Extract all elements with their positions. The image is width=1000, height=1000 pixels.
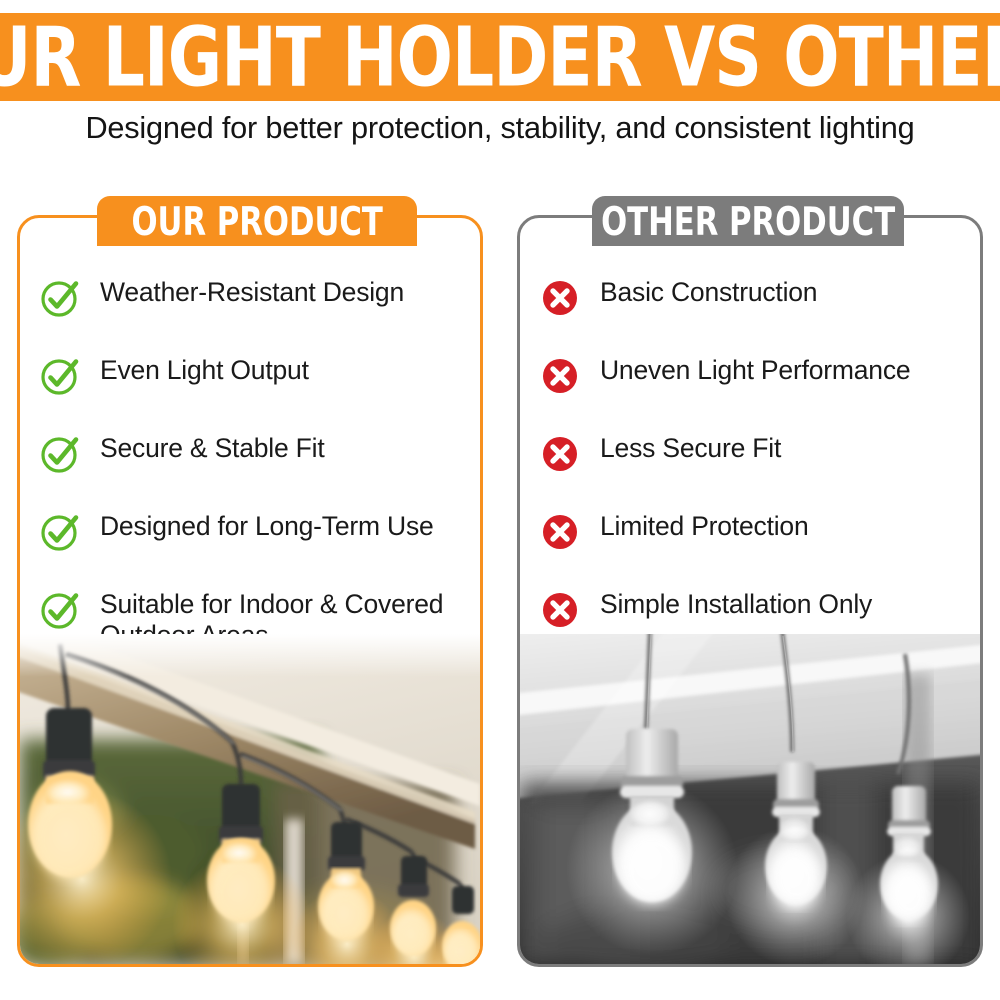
check-circle-icon xyxy=(38,276,82,320)
our-product-card: Weather-Resistant Design Even Light Outp… xyxy=(17,215,483,967)
other-product-feature-list: Basic Construction Uneven Light Performa… xyxy=(520,270,980,660)
list-item: Weather-Resistant Design xyxy=(38,270,466,348)
header-banner: OUR LIGHT HOLDER VS OTHERS xyxy=(0,13,1000,101)
list-item: Uneven Light Performance xyxy=(538,348,966,426)
our-product-photo xyxy=(20,634,480,964)
list-item: Secure & Stable Fit xyxy=(38,426,466,504)
list-item-label: Less Secure Fit xyxy=(600,430,781,464)
x-circle-icon xyxy=(538,354,582,398)
x-circle-icon xyxy=(538,276,582,320)
check-circle-icon xyxy=(38,588,82,632)
tab-our-product[interactable]: OUR PRODUCT xyxy=(97,196,417,246)
list-item: Limited Protection xyxy=(538,504,966,582)
list-item-label: Designed for Long-Term Use xyxy=(100,508,434,542)
list-item-label: Limited Protection xyxy=(600,508,809,542)
list-item-label: Basic Construction xyxy=(600,274,817,308)
check-circle-icon xyxy=(38,510,82,554)
list-item: Even Light Output xyxy=(38,348,466,426)
x-circle-icon xyxy=(538,432,582,476)
x-circle-icon xyxy=(538,588,582,632)
tab-our-product-label: OUR PRODUCT xyxy=(131,202,382,241)
x-circle-icon xyxy=(538,510,582,554)
list-item-label: Secure & Stable Fit xyxy=(100,430,325,464)
page-title: OUR LIGHT HOLDER VS OTHERS xyxy=(0,16,1000,98)
list-item-label: Even Light Output xyxy=(100,352,309,386)
list-item: Basic Construction xyxy=(538,270,966,348)
other-product-card: Basic Construction Uneven Light Performa… xyxy=(517,215,983,967)
other-product-photo xyxy=(520,634,980,964)
page-subtitle: Designed for better protection, stabilit… xyxy=(5,108,995,148)
comparison-columns: Weather-Resistant Design Even Light Outp… xyxy=(0,196,1000,982)
list-item: Designed for Long-Term Use xyxy=(38,504,466,582)
our-product-feature-list: Weather-Resistant Design Even Light Outp… xyxy=(20,270,480,660)
list-item: Less Secure Fit xyxy=(538,426,966,504)
tab-other-product[interactable]: OTHER PRODUCT xyxy=(592,196,904,246)
check-circle-icon xyxy=(38,354,82,398)
tab-other-product-label: OTHER PRODUCT xyxy=(601,202,895,241)
check-circle-icon xyxy=(38,432,82,476)
comparison-infographic: OUR LIGHT HOLDER VS OTHERS Designed for … xyxy=(0,0,1000,1000)
list-item-label: Simple Installation Only xyxy=(600,586,872,620)
list-item-label: Weather-Resistant Design xyxy=(100,274,404,308)
list-item-label: Uneven Light Performance xyxy=(600,352,910,386)
